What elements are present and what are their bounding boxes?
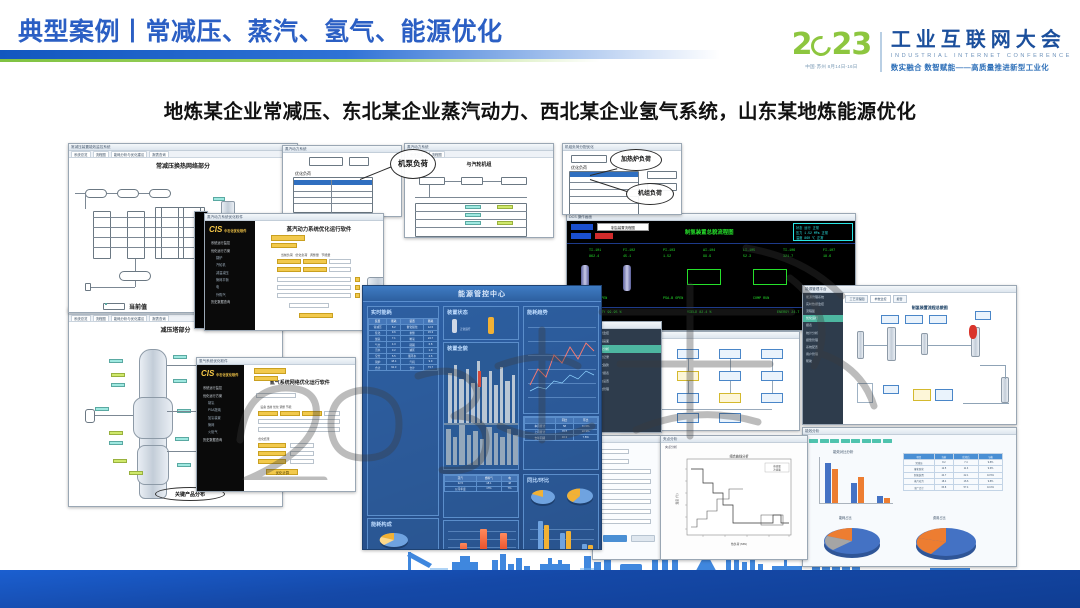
pie-chart (911, 521, 981, 563)
tag-label (465, 221, 481, 225)
tab-item[interactable]: 流程图 (93, 315, 109, 322)
logo-year: 223 (792, 30, 872, 60)
panel-canvas: 优化负荷 (283, 153, 401, 216)
chart-canvas: 能效对比分析 项目当前优化后节能 常减压8.27.49.8% 催化裂化12.51… (803, 435, 1016, 566)
menu-item[interactable]: 优化运行方案 (205, 246, 255, 253)
dcs-tag (571, 224, 593, 230)
table-rule (294, 197, 372, 198)
menu-item[interactable]: 管网平衡 (205, 276, 255, 283)
tag-label (109, 359, 123, 363)
tag-label (129, 471, 143, 475)
logo-name-cn: 工业互联网大会 (891, 30, 1072, 51)
cis-logo: CIS 中石化优化软件 (205, 221, 255, 234)
menu-item[interactable]: PSA提纯 (197, 406, 244, 413)
menu-item[interactable]: 外购汽 (205, 291, 255, 298)
dcs-status-box: 状态 运行 正常 压力 1.52 MPa 正常 温度 860 ℃ 正常 (793, 223, 853, 241)
nav-item[interactable]: 流程画面 (593, 337, 661, 345)
input-field[interactable] (258, 427, 340, 432)
input-field[interactable] (599, 489, 651, 494)
input-field[interactable] (256, 393, 296, 398)
bar (480, 529, 487, 549)
legend-label: 当前值 (129, 302, 147, 311)
input-field[interactable] (258, 443, 286, 448)
stats-table: 蒸汽燃料气电 32.518.148 公司年度17%7% (444, 475, 518, 492)
secondary-button[interactable] (631, 535, 655, 542)
dashboard-title: 能源管控中心 (363, 286, 601, 302)
status-chip (862, 439, 871, 443)
menu-item[interactable]: 加氢装置 (197, 414, 244, 421)
status-chip (254, 368, 286, 374)
cis-content: 氢气系统网络优化运行软件 设备 当前 优化 调整 节能 优化结果 (244, 365, 355, 491)
dcs-banner: 制氢装置总貌流程图 (685, 228, 734, 236)
tab-item[interactable]: 报警 (893, 295, 907, 303)
page-title: 典型案例丨常减压、蒸汽、氢气、能源优化 (18, 12, 503, 48)
input-field[interactable] (289, 303, 329, 308)
flow-line (89, 287, 135, 288)
title-divider-green (0, 59, 600, 62)
nav-item-active[interactable]: 能耗分析 (593, 345, 661, 353)
input-field[interactable] (599, 459, 629, 464)
nav-item[interactable]: 流程图 (803, 307, 843, 314)
nav-item[interactable]: 实时监控 (593, 329, 661, 337)
input-field[interactable] (290, 459, 314, 464)
input-field[interactable] (258, 419, 340, 424)
status-chip (809, 439, 818, 443)
input-field[interactable] (302, 411, 322, 416)
legend-box (857, 383, 873, 403)
input-field[interactable] (258, 451, 286, 456)
screenshot-collage: 常减压装置能效监控系统 系统总览 流程图 能耗分析与优化建议 报表查询 常减压换… (0, 135, 1080, 575)
column-node (857, 331, 864, 359)
tag-label (109, 431, 123, 435)
bar (460, 543, 467, 549)
tab-item[interactable]: 工艺流程图 (845, 295, 868, 303)
menu-item[interactable]: 管网 (197, 421, 244, 428)
input-field[interactable] (277, 277, 351, 282)
chart-title: 能耗占比 (839, 515, 852, 520)
table-rule (294, 203, 372, 204)
conference-logo: 223 中国·苏州 8月14日-16日 工业互联网大会 INDUSTRIAL I… (792, 30, 1072, 73)
input-field[interactable] (277, 259, 301, 264)
window-titlebar: 蒸汽动力系统 (405, 144, 553, 151)
nav-item[interactable]: 报表 (803, 322, 843, 329)
pie-chart (370, 545, 400, 549)
tab-item[interactable]: 流程图 (93, 151, 109, 158)
dashboard-canvas: 实时能耗 装置能耗装置能耗 常减压8.2催化裂化12.5 焦化9.6重整15.3… (363, 302, 601, 549)
menu-item[interactable]: 系统运行监控 (205, 239, 255, 246)
tab-strip[interactable]: 系统总览 流程图 能耗分析与优化建议 报表查询 (69, 151, 297, 158)
bar (544, 525, 549, 549)
shot-cis-steam[interactable]: 蒸汽动力系统优化软件 CIS 中石化优化软件 系统运行监控 优化运行方案 锅炉 … (204, 213, 384, 331)
flow-line (772, 381, 773, 393)
flow-line (688, 359, 689, 371)
input-field[interactable] (599, 479, 651, 484)
data-box (929, 315, 947, 324)
panel-canvas: 实时监控 流程画面 能耗分析 报警记录 历史趋势 统计报表 参数设置 系统管理 (593, 329, 661, 432)
node-box (719, 371, 741, 381)
menu-item[interactable]: 制氢 (197, 399, 244, 406)
flow-line (135, 281, 136, 287)
shot-pfd-right[interactable]: 能源管理平台 能源管理系统 实时数据监控 流程图 优化运行 报表 统计分析 报警… (802, 285, 1017, 425)
bar (851, 483, 857, 503)
shot-chart-right[interactable]: 能效分析 能效对比分析 (802, 427, 1017, 567)
pie-chart (406, 545, 436, 549)
bar (877, 496, 883, 503)
menu-item[interactable]: 历史数据查询 (205, 298, 255, 305)
feed-node (85, 409, 95, 423)
tab-item[interactable]: 报表查询 (149, 151, 169, 158)
input-field[interactable] (277, 293, 351, 298)
flow-line (85, 193, 86, 209)
nav-item[interactable]: 报警记录 (593, 353, 661, 361)
dcs-divider (567, 243, 855, 244)
value-box (309, 157, 343, 166)
nav-item[interactable]: 用户管理 (803, 351, 843, 358)
input-field[interactable] (599, 499, 651, 504)
nav-item[interactable]: 系统管理 (593, 385, 661, 393)
input-field[interactable] (329, 267, 351, 272)
section-label: 优化结果 (258, 437, 269, 441)
table-header-row (570, 172, 638, 177)
tray-stack (127, 211, 145, 259)
input-field[interactable] (258, 411, 278, 416)
callout-bubble: 机组负荷 (626, 183, 674, 205)
gauge-bar (452, 319, 457, 333)
shot-energy-dashboard[interactable]: 能源管控中心 实时能耗 装置能耗装置能耗 常减压8.2催化裂化12.5 焦化9.… (362, 285, 602, 550)
node-box (677, 371, 699, 381)
svg-text:温度 (℃): 温度 (℃) (675, 493, 679, 504)
card-stats: 蒸汽燃料气电 32.518.148 公司年度17%7% (443, 474, 519, 518)
table-rule (415, 211, 527, 212)
data-box (935, 389, 953, 401)
column-node (887, 327, 896, 361)
tag-label (175, 437, 189, 441)
tag-label (173, 379, 187, 383)
table-rule (415, 219, 527, 220)
slide-root: 典型案例丨常减压、蒸汽、氢气、能源优化 223 中国·苏州 8月14日-16日 … (0, 0, 1080, 608)
exchanger-node (149, 189, 171, 198)
input-field[interactable] (599, 449, 629, 454)
value-box (349, 157, 369, 166)
nav-item[interactable]: 报警管理 (803, 336, 843, 343)
status-value: 正常运行 (460, 327, 470, 331)
headline: 地炼某企业常减压、东北某企业蒸汽动力、西北某企业氢气系统，山东某地炼能源优化 (0, 95, 1080, 124)
exchanger-node (117, 189, 139, 198)
flow-line (730, 359, 731, 371)
node-box (719, 349, 741, 359)
tag-label (111, 373, 125, 377)
y-axis (819, 457, 820, 503)
flow-line (415, 197, 527, 198)
dcs-alarm-chip (595, 233, 613, 239)
shot-load-table-a[interactable]: 蒸汽动力系统 优化负荷 (282, 145, 402, 217)
menu-item[interactable]: 减温减压 (205, 269, 255, 276)
flag-chip (355, 285, 360, 290)
shot-side-nav-panel[interactable]: 监控 实时监控 流程画面 能耗分析 报警记录 历史趋势 统计报表 参数设置 系统… (592, 321, 662, 433)
window-titlebar: 能效分析 (803, 428, 1016, 435)
panel-canvas (593, 443, 661, 559)
value-box (571, 155, 607, 163)
equipment-node (501, 177, 527, 185)
bar (858, 477, 864, 503)
window-titlebar: 蒸汽动力系统 (283, 146, 401, 153)
dcs-tag (571, 233, 591, 239)
optimize-button[interactable]: 优化计算 (266, 469, 298, 475)
value-box (647, 171, 677, 179)
cis-menu[interactable]: 系统运行监控 优化运行方案 锅炉 汽轮机 减温减压 管网平衡 电 外购汽 历史数… (205, 239, 255, 305)
menu-item[interactable]: 火炬气 (197, 428, 244, 435)
flow-line (139, 193, 149, 194)
menu-item[interactable]: 电 (205, 283, 255, 290)
logo-subtitle: 数实融合 数智赋能——高质量推进新型工业化 (891, 62, 1072, 73)
node-box (677, 393, 699, 403)
input-field[interactable] (277, 285, 351, 290)
node-box (719, 393, 741, 403)
status-chip (872, 439, 881, 443)
logo-text-block: 工业互联网大会 INDUSTRIAL INTERNET CONFERENCE 数… (891, 30, 1072, 73)
card-compare: 同比/环比 (523, 474, 599, 549)
tag-label (113, 459, 127, 463)
input-field[interactable] (303, 267, 327, 272)
page-heading: 蒸汽动力系统优化运行软件 (255, 225, 383, 233)
flow-line (135, 259, 136, 271)
menu-item[interactable]: 优化运行方案 (197, 391, 244, 398)
nav-item[interactable]: 系统配置 (803, 343, 843, 350)
nav-item[interactable]: 历史趋势 (593, 361, 661, 369)
footer-wave (0, 570, 1080, 608)
tab-item[interactable]: 能耗分析与优化建议 (111, 151, 148, 158)
node-box (719, 413, 741, 423)
flow-canvas (405, 169, 553, 237)
window-titlebar: 监控 (593, 322, 661, 329)
status-chip (271, 235, 305, 241)
flow-line (928, 345, 971, 346)
vacuum-tower-mid (133, 397, 173, 439)
menu-item[interactable]: 锅炉 (205, 254, 255, 261)
diagram-title: 常减压换热网络部分 (69, 158, 297, 171)
tab-item[interactable]: 系统总览 (71, 315, 91, 322)
input-field[interactable] (329, 259, 351, 264)
nav-item[interactable]: 帮助 (803, 358, 843, 365)
tag-label (465, 205, 481, 209)
cis-menu[interactable]: 系统运行监控 优化运行方案 制氢 PSA提纯 加氢装置 管网 火炬气 历史数据查… (197, 384, 244, 443)
x-axis (819, 503, 893, 504)
callout-bubble: 机泵负荷 (390, 149, 436, 179)
flow-line (688, 381, 689, 393)
table-row: 合计62.3合计73.7 (369, 365, 438, 371)
nav-item[interactable]: 参数设置 (593, 377, 661, 385)
tag-label (95, 407, 109, 411)
window-titlebar: 常减压装置能效监控系统 (69, 144, 297, 151)
status-chip-row (809, 439, 892, 443)
input-field[interactable] (299, 313, 333, 318)
node-box (677, 349, 699, 359)
shot-param-list[interactable]: 参数 (592, 435, 662, 560)
tab-strip[interactable]: 工艺流程图 参数监控 报警 (845, 295, 906, 303)
nav-sidebar[interactable]: 能源管理系统 实时数据监控 流程图 优化运行 报表 统计分析 报警管理 系统配置… (803, 293, 843, 424)
input-field[interactable] (290, 443, 314, 448)
input-field[interactable] (258, 459, 286, 464)
flow-line (1005, 365, 1006, 379)
shot-step-chart[interactable]: 夹点分析 夹点分析 组合曲线分析 (660, 435, 808, 560)
bar (500, 533, 507, 549)
tab-item[interactable]: 系统总览 (71, 151, 91, 158)
primary-button[interactable] (603, 535, 627, 542)
exchanger-node (85, 189, 107, 198)
bar (538, 521, 543, 549)
flow-line (896, 345, 921, 346)
svg-text:热负荷 (MW): 热负荷 (MW) (731, 542, 747, 546)
flag-chip (355, 277, 360, 282)
chart-title: 费用占比 (933, 515, 946, 520)
bar (825, 463, 831, 503)
equipment-node (461, 177, 483, 185)
gauge-bar (488, 317, 494, 334)
tab-item[interactable]: 报表查询 (149, 315, 169, 322)
vacuum-tower-low (137, 445, 169, 485)
data-box (883, 385, 899, 394)
tag-label (465, 213, 481, 217)
status-chip (883, 439, 892, 443)
energy-table: 装置能耗装置能耗 常减压8.2催化裂化12.5 焦化9.6重整15.3 加氢7.… (368, 318, 438, 371)
logo-divider (880, 32, 882, 72)
pie-chart (564, 483, 596, 509)
tag-label (177, 463, 191, 467)
menu-item[interactable]: 系统运行监控 (197, 384, 244, 391)
plant-3d-view (444, 343, 519, 470)
pfd-content: 工艺流程图 参数监控 报警 制氢装置流程总貌图 (843, 293, 1016, 424)
window-titlebar: DCS 操作画面 (567, 214, 855, 221)
node-box (761, 349, 783, 359)
input-field[interactable] (599, 519, 651, 524)
card-energy-trend: 能耗趋势 (523, 306, 599, 414)
window-titlebar: 夹点分析 (661, 436, 807, 443)
tag-label (497, 205, 513, 209)
card-plant-view: 装置全貌 (443, 342, 519, 470)
pump-node (119, 271, 151, 281)
flow-line (483, 181, 501, 182)
input-field[interactable] (277, 267, 301, 272)
unit-frame (753, 269, 787, 285)
input-field[interactable] (303, 259, 327, 264)
app-canvas: 能源管理系统 实时数据监控 流程图 优化运行 报表 统计分析 报警管理 系统配置… (803, 293, 1016, 424)
status-chip (271, 243, 297, 248)
pie-chart (819, 521, 885, 561)
pie-chart (528, 485, 558, 509)
card-energy-breakdown: 能耗构成 (367, 518, 439, 549)
logo-date: 中国·苏州 8月14日-16日 (805, 64, 857, 70)
flow-line (980, 365, 1005, 366)
column-node (1001, 377, 1009, 403)
card-unit-status: 装置状态 正常运行 (443, 306, 519, 340)
dcs-title-field: 制氢装置流程图 (597, 223, 649, 231)
nav-item[interactable]: 能源管理系统 (803, 293, 843, 300)
table-rule (294, 191, 372, 192)
data-box (905, 315, 923, 324)
cis-sidebar[interactable]: CIS 中石化优化软件 系统运行监控 优化运行方案 锅炉 汽轮机 减温减压 管网… (205, 221, 255, 330)
input-field[interactable] (324, 411, 340, 416)
card-kpi: 同比环比 本月累计5811.5% 上月累计76.522.9% 去年同期46.37… (523, 416, 599, 470)
flow-line (429, 185, 430, 197)
menu-item[interactable]: 汽轮机 (205, 261, 255, 268)
kpi-table: 同比环比 本月累计5811.5% 上月累计76.522.9% 去年同期46.37… (524, 417, 598, 441)
status-chip (841, 439, 850, 443)
column-node (921, 333, 928, 355)
tray-stack (93, 211, 111, 259)
app-canvas: CIS 中石化优化软件 系统运行监控 优化运行方案 锅炉 汽轮机 减温减压 管网… (205, 221, 383, 330)
app-canvas: CIS 中石化优化软件 系统运行监控 优化运行方案 制氢 PSA提纯 加氢装置 … (197, 365, 355, 491)
table-rule (415, 227, 527, 228)
cis-logo: CIS 中石化优化软件 (197, 365, 244, 378)
window-titlebar: 能源管理平台 (803, 286, 1016, 293)
bar (566, 531, 571, 549)
title-divider-blue (0, 50, 720, 59)
data-box (975, 311, 991, 320)
node-box (761, 371, 783, 381)
tag-label (497, 221, 513, 225)
flow-line (107, 193, 117, 194)
tab-item[interactable]: 参数监控 (870, 295, 890, 303)
flow-line (646, 409, 772, 410)
flow-line (730, 381, 731, 393)
svg-text:冷流股: 冷流股 (773, 468, 781, 472)
tag-label (109, 441, 123, 445)
table-row: 去年同期46.37.8% (525, 435, 598, 441)
menu-item[interactable]: 历史数据查询 (197, 436, 244, 443)
nav-item-active[interactable]: 优化运行 (803, 315, 843, 322)
bar (884, 498, 890, 503)
tag-label (105, 303, 107, 305)
bar (588, 545, 593, 549)
svg-text:组合曲线分析: 组合曲线分析 (729, 454, 749, 459)
flow-line (864, 345, 887, 346)
logo-name-en: INDUSTRIAL INTERNET CONFERENCE (891, 53, 1072, 59)
tag-label (111, 383, 125, 387)
shot-cis-hydrogen[interactable]: 氢气系统优化软件 CIS 中石化优化软件 系统运行监控 优化运行方案 制氢 PS… (196, 357, 356, 492)
window-titlebar: 参数 (593, 436, 661, 443)
tag-label (173, 355, 187, 359)
input-field[interactable] (599, 469, 651, 474)
nav-item[interactable]: 实时数据监控 (803, 300, 843, 307)
flow-line (445, 181, 461, 182)
status-chip (851, 439, 860, 443)
status-chip (830, 439, 839, 443)
table-rule (570, 203, 638, 204)
flow-line (772, 359, 773, 371)
chart-caption: 夹点分析 (665, 445, 677, 449)
cis-sidebar[interactable]: CIS 中石化优化软件 系统运行监控 优化运行方案 制氢 PSA提纯 加氢装置 … (197, 365, 244, 491)
input-field[interactable] (280, 411, 300, 416)
logo-ring-icon (808, 32, 836, 60)
nav-item[interactable]: 统计分析 (803, 329, 843, 336)
status-chip (820, 439, 829, 443)
bar (560, 533, 565, 549)
nav-item[interactable]: 统计报表 (593, 369, 661, 377)
table-rule (331, 180, 332, 213)
input-field[interactable] (290, 451, 314, 456)
card-realtime-energy: 实时能耗 装置能耗装置能耗 常减压8.2催化裂化12.5 焦化9.6重整15.3… (367, 306, 439, 516)
table-row: 公司年度17%7% (445, 486, 518, 492)
window-titlebar: 氢气系统优化软件 (197, 358, 355, 365)
table-header-row (294, 180, 372, 185)
chart-canvas: 夹点分析 组合曲线分析 (661, 443, 807, 559)
tab-item[interactable]: 能耗分析与优化建议 (111, 315, 148, 322)
input-field[interactable] (599, 509, 651, 514)
legend-label: 当前值 (131, 506, 149, 507)
flow-line (75, 193, 85, 194)
tag-label (213, 197, 225, 201)
logo-year-block: 223 中国·苏州 8月14日-16日 (792, 30, 872, 70)
